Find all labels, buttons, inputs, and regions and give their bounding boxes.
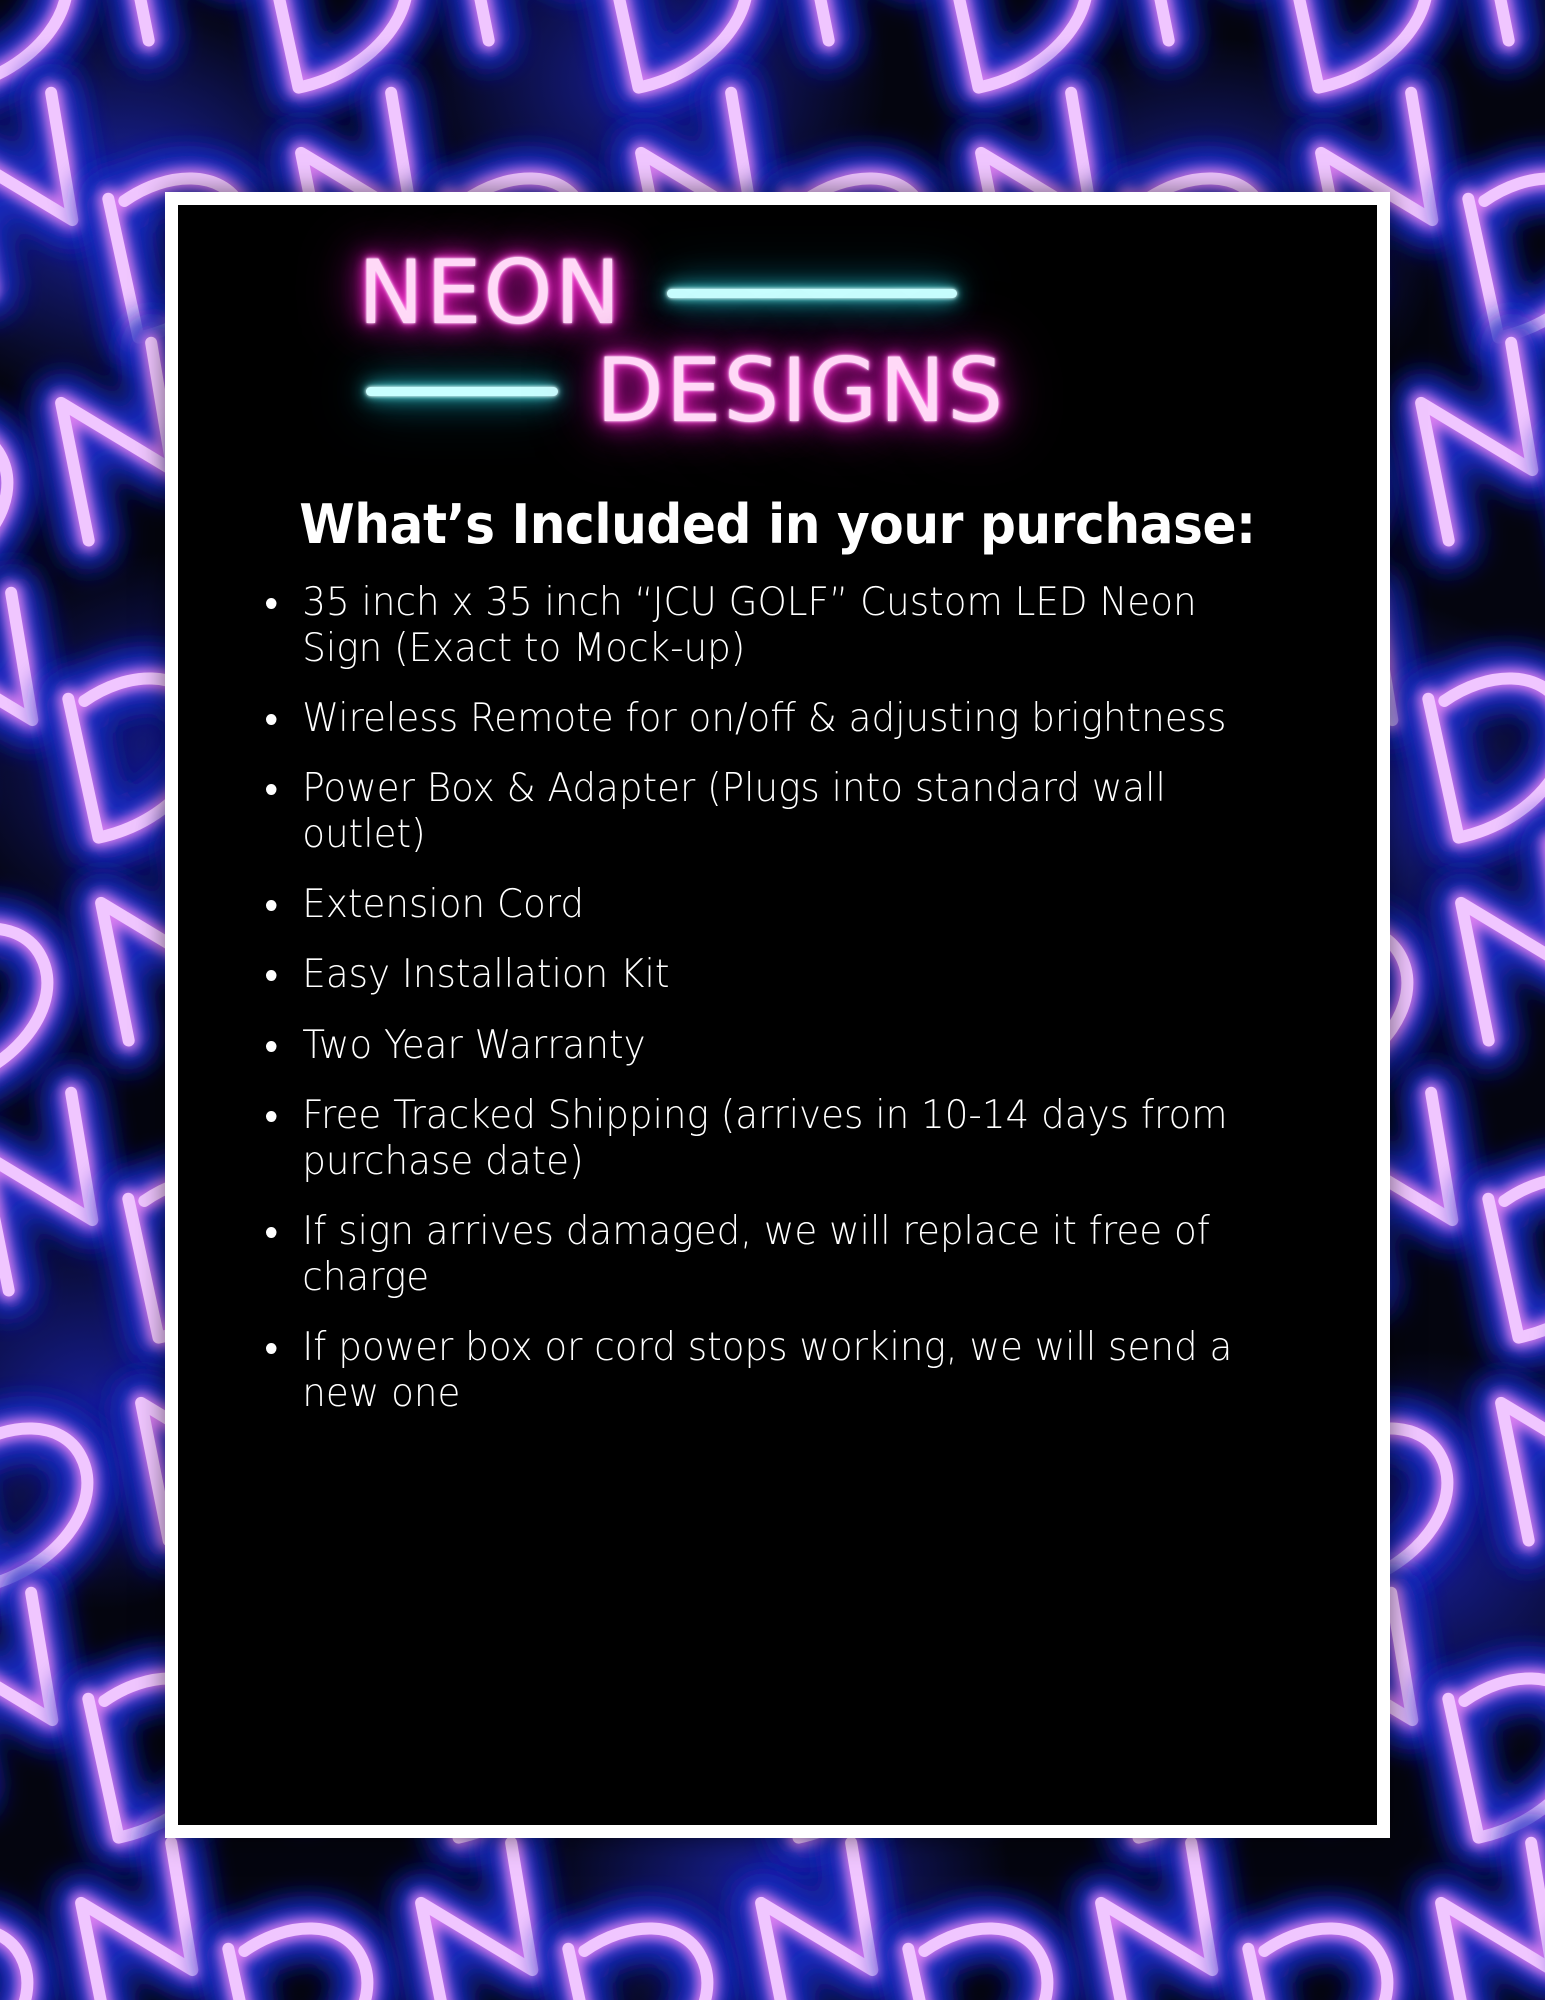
- poster-card: NEON DESIGNS What’s Included in your pur…: [178, 205, 1377, 1825]
- list-item: 35 inch x 35 inch “JCU GOLF” Custom LED …: [266, 580, 1266, 672]
- bullet-dot-icon: [266, 1041, 277, 1052]
- bullet-dot-icon: [266, 598, 277, 609]
- list-item-label: Power Box & Adapter (Plugs into standard…: [302, 766, 1166, 857]
- cyan-bar-left-icon: [366, 387, 558, 396]
- list-item: Wireless Remote for on/off & adjusting b…: [266, 696, 1266, 742]
- list-item: Power Box & Adapter (Plugs into standard…: [266, 766, 1266, 858]
- logo-word-designs: DESIGNS: [596, 347, 1005, 435]
- logo-word-neon: NEON: [358, 249, 623, 337]
- cyan-bar-right-icon: [667, 289, 957, 298]
- bullet-dot-icon: [266, 900, 277, 911]
- list-item: If sign arrives damaged, we will replace…: [266, 1209, 1266, 1301]
- list-item-label: 35 inch x 35 inch “JCU GOLF” Custom LED …: [302, 580, 1196, 671]
- list-item-label: If power box or cord stops working, we w…: [302, 1325, 1232, 1416]
- list-item-label: Extension Cord: [302, 882, 584, 927]
- page-title: What’s Included in your purchase:: [220, 495, 1335, 554]
- list-item-label: Easy Installation Kit: [302, 952, 669, 997]
- poster-frame: NEON DESIGNS What’s Included in your pur…: [165, 192, 1390, 1838]
- bullet-dot-icon: [266, 714, 277, 725]
- bullet-dot-icon: [266, 1111, 277, 1122]
- included-items-list: 35 inch x 35 inch “JCU GOLF” Custom LED …: [178, 580, 1377, 1416]
- bullet-dot-icon: [266, 784, 277, 795]
- logo-row-top: NEON: [358, 249, 957, 337]
- poster-page: NEON DESIGNS What’s Included in your pur…: [0, 0, 1545, 2000]
- neon-designs-logo: NEON DESIGNS: [178, 243, 1377, 473]
- logo-row-bottom: DESIGNS: [366, 347, 1005, 435]
- list-item: If power box or cord stops working, we w…: [266, 1325, 1266, 1417]
- list-item-label: Free Tracked Shipping (arrives in 10-14 …: [302, 1093, 1227, 1184]
- list-item: Free Tracked Shipping (arrives in 10-14 …: [266, 1093, 1266, 1185]
- bullet-dot-icon: [266, 970, 277, 981]
- list-item-label: Wireless Remote for on/off & adjusting b…: [302, 696, 1226, 741]
- bullet-dot-icon: [266, 1343, 277, 1354]
- list-item-label: If sign arrives damaged, we will replace…: [302, 1209, 1210, 1300]
- list-item: Easy Installation Kit: [266, 952, 1266, 998]
- bullet-dot-icon: [266, 1227, 277, 1238]
- list-item-label: Two Year Warranty: [302, 1023, 645, 1068]
- list-item: Extension Cord: [266, 882, 1266, 928]
- list-item: Two Year Warranty: [266, 1023, 1266, 1069]
